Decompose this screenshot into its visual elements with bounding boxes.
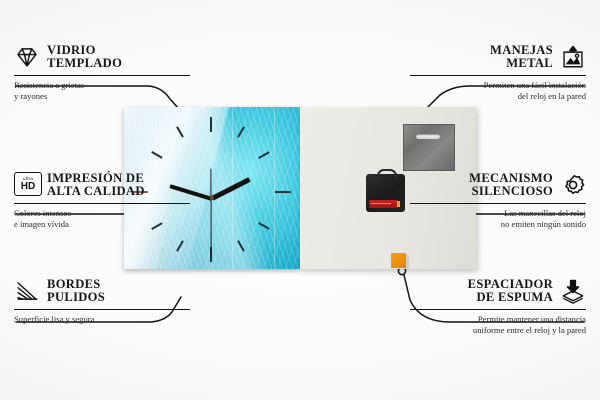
feature-divider <box>410 309 586 311</box>
feature-header: MANEJAS METAL <box>410 44 586 73</box>
feature-divider <box>410 203 586 205</box>
glass-panel-line <box>274 107 275 269</box>
feature-impresion-alta-calidad: ultra HD IMPRESIÓN DE ALTA CALIDAD Color… <box>14 172 190 230</box>
feature-header: ESPACIADOR DE ESPUMA <box>410 278 586 307</box>
clock-center-pivot <box>210 196 214 200</box>
foam-spacer <box>391 253 406 268</box>
feature-title: MECANISMO SILENCIOSO <box>469 172 553 199</box>
clock-marker <box>258 222 269 229</box>
feature-bordes-pulidos: BORDES PULIDOS Superficie lisa y segura <box>14 278 190 325</box>
feature-header: MECANISMO SILENCIOSO <box>410 172 586 201</box>
feature-divider <box>14 203 190 205</box>
clock-marker <box>210 117 212 132</box>
foam-spacer-edge <box>406 255 409 269</box>
feature-description: Superficie lisa y segura <box>14 314 190 325</box>
clock-hour-hand <box>211 177 250 200</box>
diamond-icon <box>14 44 40 70</box>
feature-title: MANEJAS METAL <box>490 44 553 71</box>
feature-header: ultra HD IMPRESIÓN DE ALTA CALIDAD <box>14 172 190 201</box>
polished-edge-icon <box>14 278 40 304</box>
arrow-down-stack-icon <box>560 278 586 304</box>
gear-icon <box>560 172 586 198</box>
feature-divider <box>14 309 190 311</box>
feature-manejas-metal: MANEJAS METAL Permiten una fácil instala… <box>410 44 586 102</box>
hanger-slot <box>416 134 440 139</box>
battery-band <box>371 203 391 204</box>
mechanism-loop <box>377 169 397 179</box>
feature-description: Permite mantener una distancia uniforme … <box>410 314 586 336</box>
feature-title: VIDRIO TEMPLADO <box>47 44 122 71</box>
hanging-picture-icon <box>560 44 586 70</box>
clock-marker <box>275 191 291 193</box>
metal-hanger-plate <box>403 124 455 171</box>
clock-mechanism <box>366 174 405 212</box>
battery <box>369 200 398 208</box>
feature-header: VIDRIO TEMPLADO <box>14 44 190 73</box>
feature-title: ESPACIADOR DE ESPUMA <box>468 278 553 305</box>
feature-espaciador-espuma: ESPACIADOR DE ESPUMA Permite mantener un… <box>410 278 586 336</box>
clock-marker <box>258 151 269 158</box>
battery-tip <box>397 201 400 207</box>
feature-title: BORDES PULIDOS <box>47 278 105 305</box>
feature-description: Resistencia a grietas y rayones <box>14 80 190 102</box>
feature-description: Permiten una fácil instalación del reloj… <box>410 80 586 102</box>
feature-title: IMPRESIÓN DE ALTA CALIDAD <box>47 172 145 199</box>
feature-header: BORDES PULIDOS <box>14 278 190 307</box>
feature-mecanismo-silencioso: MECANISMO SILENCIOSO Las manecillas del … <box>410 172 586 230</box>
feature-vidrio-templado: VIDRIO TEMPLADO Resistencia a grietas y … <box>14 44 190 102</box>
feature-divider <box>410 75 586 77</box>
infographic-canvas: VIDRIO TEMPLADO Resistencia a grietas y … <box>0 0 600 400</box>
clock-marker <box>237 126 244 137</box>
feature-divider <box>14 75 190 77</box>
ultra-hd-icon: ultra HD <box>14 172 40 198</box>
clock-marker <box>237 240 244 251</box>
clock-second-hand-top <box>210 168 211 198</box>
feature-description: Las manecillas del reloj no emiten ningú… <box>410 208 586 230</box>
clock-second-hand <box>210 198 211 254</box>
feature-description: Colores intensos e imagen vívida <box>14 208 190 230</box>
